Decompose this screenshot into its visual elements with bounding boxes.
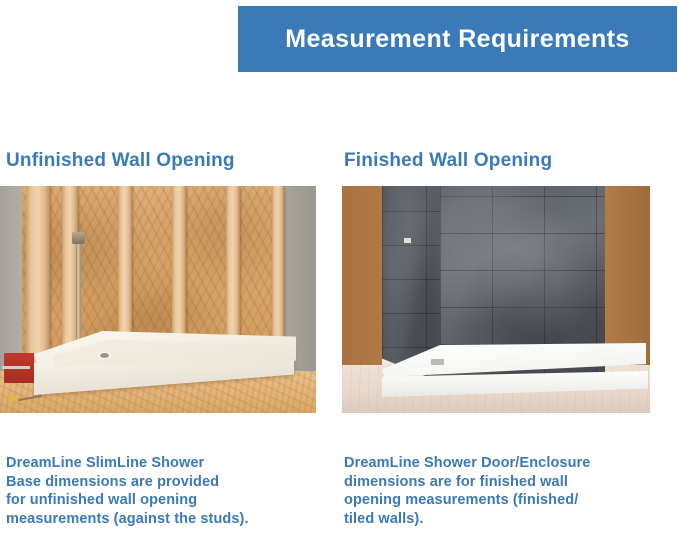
tool-on-floor bbox=[8, 396, 18, 401]
header-banner: Measurement Requirements bbox=[238, 6, 677, 72]
panel-unfinished-wall-opening: Unfinished Wall Opening bbox=[4, 150, 334, 413]
caption-unfinished: DreamLine SlimLine Shower Base dimension… bbox=[6, 454, 326, 528]
unfinished-wall-opening-photo bbox=[0, 186, 316, 413]
section-title-finished: Finished Wall Opening bbox=[344, 150, 675, 172]
left-painted-wall bbox=[342, 186, 382, 368]
wall-fitting bbox=[404, 238, 411, 243]
panel-finished-wall-opening: Finished Wall Opening bbox=[342, 150, 675, 413]
section-title-unfinished: Unfinished Wall Opening bbox=[6, 150, 334, 172]
shower-drain-icon bbox=[431, 359, 444, 365]
finished-wall-opening-photo bbox=[342, 186, 650, 413]
pipe-fitting bbox=[72, 232, 85, 244]
page-title: Measurement Requirements bbox=[285, 25, 629, 54]
shower-drain-icon bbox=[100, 353, 109, 358]
caption-finished: DreamLine Shower Door/Enclosure dimensio… bbox=[344, 454, 674, 528]
toolbox-handle bbox=[2, 366, 30, 369]
